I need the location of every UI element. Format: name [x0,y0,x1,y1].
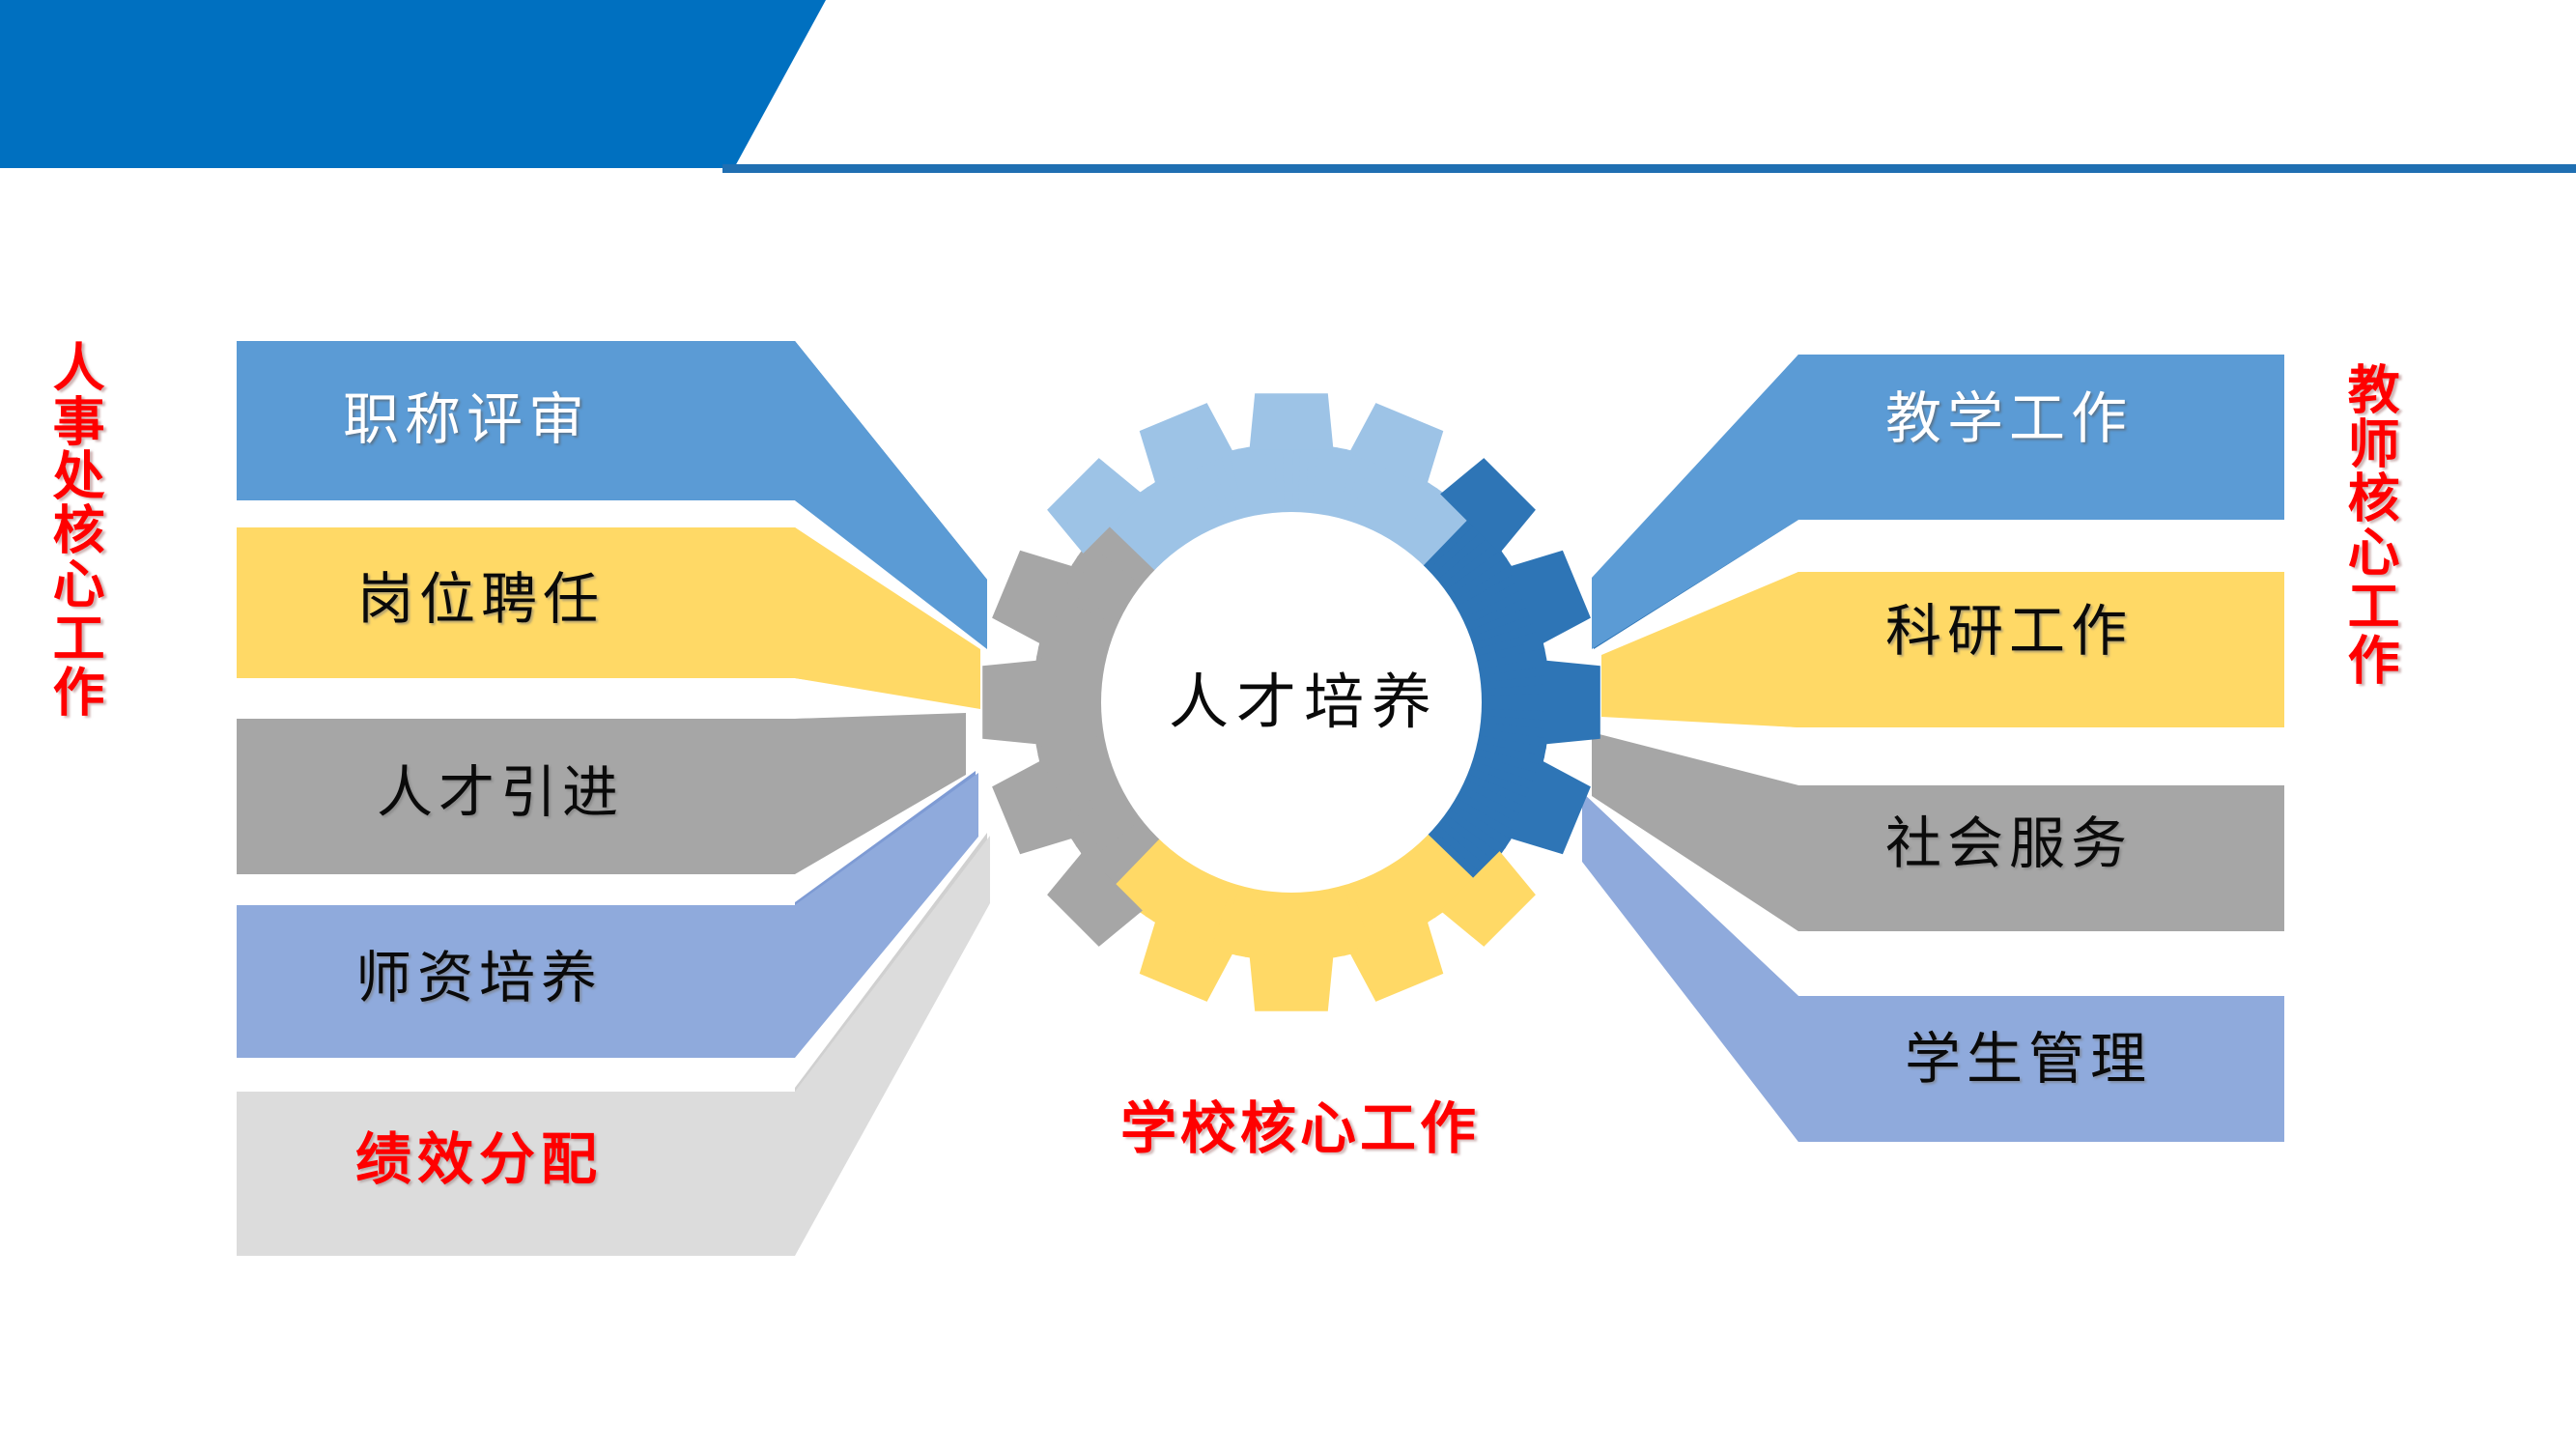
right-bar-label-2: 社会服务 [1885,816,2133,872]
right-bar-label-3: 学生管理 [1905,1032,2152,1088]
gear-hub-label: 人才培养 [1169,673,1439,733]
left-axis-label: 人事处核心工作 [46,340,99,1074]
right-bar-label-1: 科研工作 [1885,604,2133,660]
left-bar-label-0: 职称评审 [343,392,590,448]
gear-tooth [1250,954,1334,1010]
left-bar-label-1: 岗位聘任 [357,572,605,628]
right-bar-label-0: 教学工作 [1885,391,2133,447]
gear-tooth [982,661,1038,745]
right-bars[interactable] [1798,355,2284,1142]
left-bar-label-2: 人才引进 [377,765,624,821]
gear-tooth [1543,661,1599,745]
right-axis-label: 教师核心工作 [2341,362,2394,1019]
left-bar-label-3: 师资培养 [355,951,603,1007]
slide-canvas: 人事处核心工作 教师核心工作 职称评审 岗位聘任 人才引进 师资培养 绩效分配 … [0,0,2576,1450]
left-bar-label-4: 绩效分配 [355,1132,603,1188]
center-bottom-label: 学校核心工作 [1120,1101,1480,1157]
gear-tooth [1250,393,1334,449]
